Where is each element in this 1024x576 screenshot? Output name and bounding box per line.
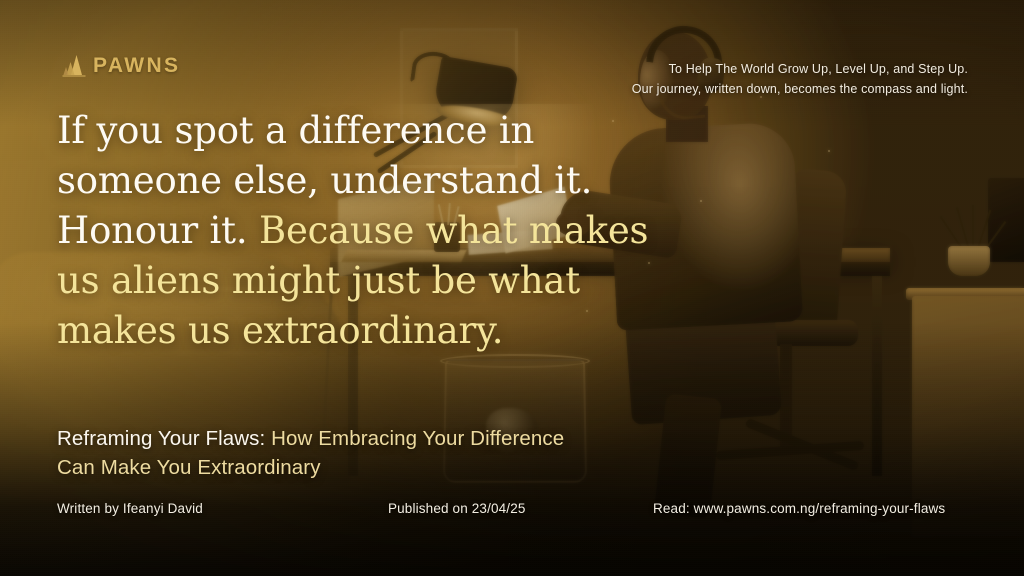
publish-date: Published on 23/04/25 — [388, 501, 526, 516]
brand-logo[interactable]: PAWNS — [62, 54, 180, 78]
footer-meta: Written by Ifeanyi David Published on 23… — [0, 501, 1024, 523]
quote-card: PAWNS To Help The World Grow Up, Level U… — [0, 0, 1024, 576]
tagline-line-2: Our journey, written down, becomes the c… — [632, 79, 968, 99]
content-layer: PAWNS To Help The World Grow Up, Level U… — [0, 0, 1024, 576]
brand-logo-text: PAWNS — [93, 54, 180, 78]
pawn-mountain-mark-icon — [62, 54, 88, 78]
pull-quote: If you spot a difference in someone else… — [57, 106, 677, 356]
author-credit: Written by Ifeanyi David — [57, 501, 203, 516]
article-title[interactable]: Reframing Your Flaws: How Embracing Your… — [57, 424, 577, 482]
article-title-main: Reframing Your Flaws: — [57, 427, 271, 450]
brand-tagline: To Help The World Grow Up, Level Up, and… — [632, 59, 968, 100]
tagline-line-1: To Help The World Grow Up, Level Up, and… — [632, 59, 968, 79]
read-link[interactable]: Read: www.pawns.com.ng/reframing-your-fl… — [653, 501, 945, 516]
